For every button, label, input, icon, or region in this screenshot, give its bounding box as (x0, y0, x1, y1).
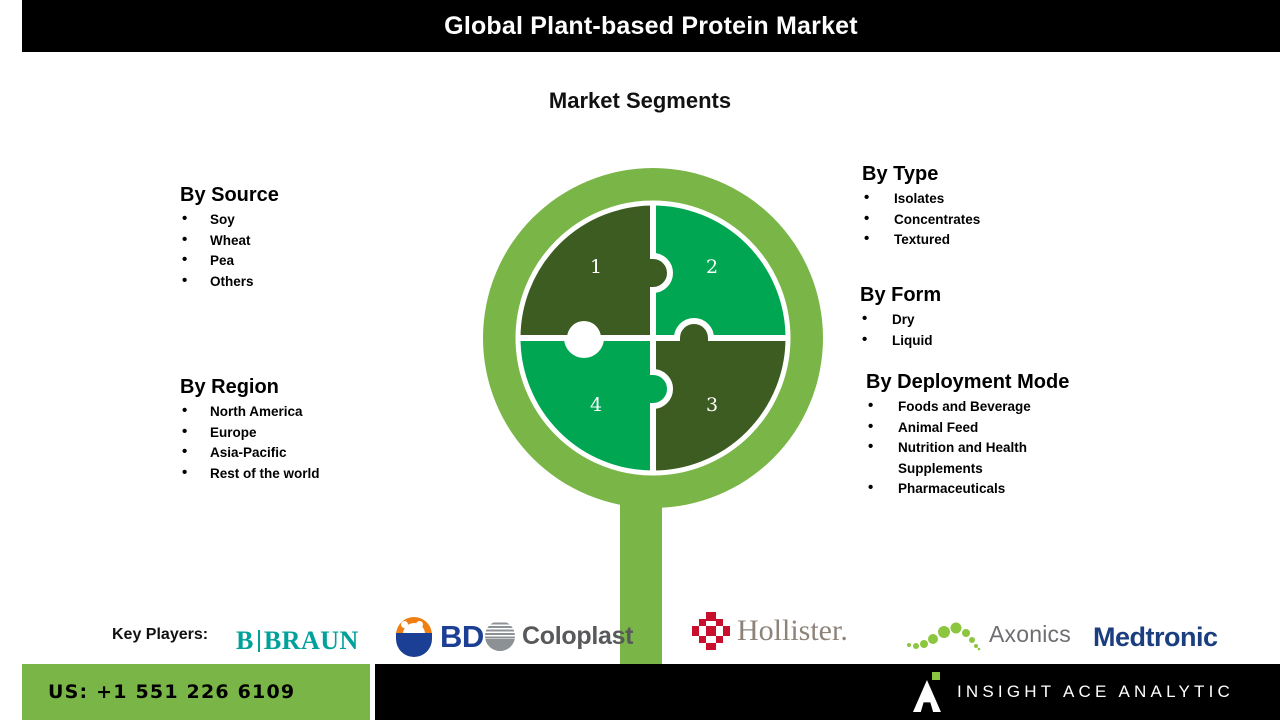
list-item-label: Soy (210, 212, 235, 227)
list-item-label: Animal Feed (898, 420, 978, 435)
bullet-icon: • (182, 271, 187, 292)
list-item-label: Concentrates (894, 212, 980, 227)
list-item-label: Liquid (892, 333, 933, 348)
puzzle-piece-1-number: 1 (590, 256, 602, 278)
footer-brand-bar: INSIGHT ACE ANALYTIC (375, 664, 1280, 720)
list-item-label: Isolates (894, 191, 944, 206)
hollister-cross-icon (692, 612, 730, 650)
segment-block-by-source: By Source •Soy •Wheat •Pea •Others (180, 184, 279, 292)
puzzle-piece-1 (503, 188, 670, 338)
list-item-label: Others (210, 274, 254, 289)
logo-b-braun: B BRAUN (236, 626, 359, 656)
list-item-label: Textured (894, 232, 950, 247)
list-item: •Concentrates (862, 210, 980, 231)
bullet-icon: • (182, 209, 187, 230)
list-item: •Pea (180, 251, 279, 272)
segment-title-by-deployment-mode: By Deployment Mode (866, 371, 1069, 394)
list-item-label: Europe (210, 425, 257, 440)
logo-bd: BD (394, 617, 484, 657)
bullet-icon: • (868, 478, 873, 499)
bullet-icon: • (868, 396, 873, 417)
bullet-icon: • (182, 463, 187, 484)
puzzle-pieces: 1 2 3 4 (483, 168, 823, 508)
bd-sunburst-icon (394, 617, 434, 657)
segment-list-by-source: •Soy •Wheat •Pea •Others (180, 210, 279, 292)
bullet-icon: • (862, 330, 867, 351)
bullet-icon: • (182, 401, 187, 422)
puzzle-piece-3-number: 3 (706, 394, 718, 416)
list-item-label: Supplements (898, 461, 983, 476)
bd-wordmark: BD (440, 619, 484, 655)
list-item-continuation: Supplements (866, 459, 1069, 480)
brand-name: INSIGHT ACE ANALYTIC (957, 682, 1234, 702)
logo-hollister: Hollister. (692, 612, 848, 650)
list-item-label: Wheat (210, 233, 251, 248)
axonics-dots-icon (905, 616, 983, 652)
key-players-label: Key Players: (112, 626, 208, 644)
bullet-icon: • (182, 422, 187, 443)
puzzle-piece-4-number: 4 (590, 394, 602, 416)
segment-title-by-form: By Form (860, 284, 941, 307)
puzzle-piece-2 (653, 188, 803, 338)
list-item: •Dry (860, 310, 941, 331)
contact-phone[interactable]: US: +1 551 226 6109 (48, 681, 295, 703)
bullet-icon: • (182, 230, 187, 251)
list-item-label: North America (210, 404, 303, 419)
logo-coloplast: Coloplast (485, 621, 633, 651)
coloplast-wordmark: Coloplast (522, 622, 633, 651)
puzzle-magnifier-graphic: 1 2 3 4 (480, 168, 828, 680)
footer-contact-bar: US: +1 551 226 6109 (22, 664, 370, 720)
list-item: •North America (180, 402, 320, 423)
bbraun-b-letter: B (236, 626, 254, 656)
puzzle-piece-3 (653, 321, 803, 488)
bbraun-wordmark: BRAUN (264, 626, 359, 656)
logo-axonics: Axonics (905, 616, 1071, 652)
segment-title-by-region: By Region (180, 376, 320, 399)
segment-block-by-type: By Type •Isolates •Concentrates •Texture… (862, 163, 980, 251)
list-item: •Asia-Pacific (180, 443, 320, 464)
list-item-label: Pea (210, 253, 234, 268)
list-item: •Europe (180, 423, 320, 444)
list-item-label: Pharmaceuticals (898, 481, 1005, 496)
segment-title-by-source: By Source (180, 184, 279, 207)
list-item: •Pharmaceuticals (866, 479, 1069, 500)
brand-lockup: INSIGHT ACE ANALYTIC (913, 672, 1234, 712)
puzzle-piece-2-number: 2 (706, 256, 718, 278)
segment-list-by-type: •Isolates •Concentrates •Textured (862, 189, 980, 251)
section-heading: Market Segments (0, 88, 1280, 114)
logo-medtronic: Medtronic (1093, 622, 1218, 653)
list-item: •Animal Feed (866, 418, 1069, 439)
list-item-label: Nutrition and Health (898, 440, 1027, 455)
segment-block-by-deployment-mode: By Deployment Mode •Foods and Beverage •… (866, 371, 1069, 500)
bullet-icon: • (862, 309, 867, 330)
axonics-wordmark: Axonics (989, 621, 1071, 648)
list-item: •Nutrition and Health (866, 438, 1069, 459)
bullet-icon: • (868, 417, 873, 438)
list-item: •Liquid (860, 331, 941, 352)
list-item: •Wheat (180, 231, 279, 252)
hollister-wordmark: Hollister. (737, 614, 848, 648)
segment-block-by-form: By Form •Dry •Liquid (860, 284, 941, 351)
medtronic-wordmark: Medtronic (1093, 622, 1218, 653)
list-item-label: Dry (892, 312, 915, 327)
bullet-icon: • (868, 437, 873, 458)
list-item: •Soy (180, 210, 279, 231)
bullet-icon: • (864, 188, 869, 209)
segment-list-by-deployment-mode: •Foods and Beverage •Animal Feed •Nutrit… (866, 397, 1069, 500)
insight-ace-a-logo-icon (913, 672, 941, 712)
segment-title-by-type: By Type (862, 163, 980, 186)
page-title: Global Plant-based Protein Market (444, 12, 858, 41)
segment-block-by-region: By Region •North America •Europe •Asia-P… (180, 376, 320, 484)
list-item: •Foods and Beverage (866, 397, 1069, 418)
bullet-icon: • (864, 209, 869, 230)
list-item-label: Foods and Beverage (898, 399, 1031, 414)
list-item-label: Rest of the world (210, 466, 320, 481)
bullet-icon: • (182, 250, 187, 271)
header-bar: Global Plant-based Protein Market (22, 0, 1280, 52)
list-item-label: Asia-Pacific (210, 445, 287, 460)
puzzle-piece-4 (503, 338, 670, 488)
coloplast-sphere-icon (485, 621, 515, 651)
segment-list-by-region: •North America •Europe •Asia-Pacific •Re… (180, 402, 320, 484)
bbraun-divider-icon (258, 630, 260, 652)
bullet-icon: • (182, 442, 187, 463)
list-item: •Rest of the world (180, 464, 320, 485)
bullet-icon: • (864, 229, 869, 250)
segment-list-by-form: •Dry •Liquid (860, 310, 941, 351)
list-item: •Textured (862, 230, 980, 251)
list-item: •Others (180, 272, 279, 293)
list-item: •Isolates (862, 189, 980, 210)
